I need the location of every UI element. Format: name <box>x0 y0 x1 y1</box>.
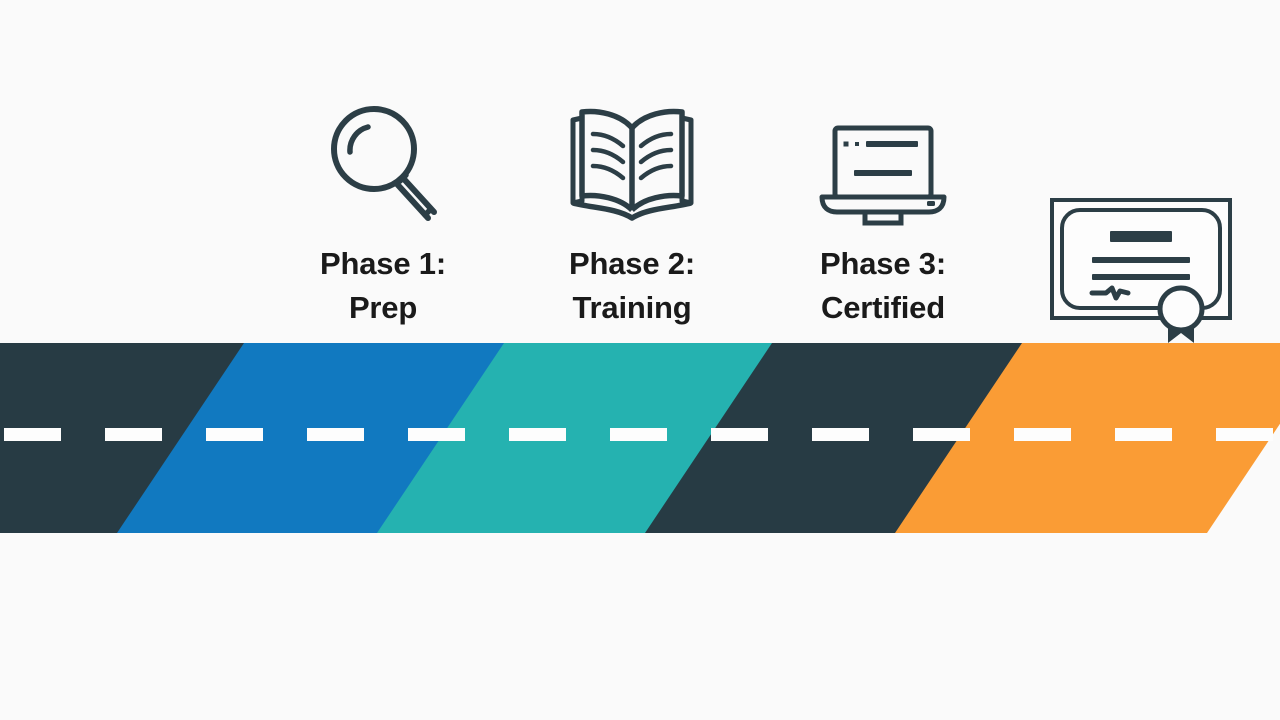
lane-dash <box>1014 428 1071 441</box>
lane-dash <box>307 428 364 441</box>
open-book-icon <box>562 104 702 226</box>
laptop-icon <box>809 122 957 226</box>
award-seal-icon <box>1160 288 1202 343</box>
phase-2-label: Phase 2: Training <box>527 242 737 330</box>
phase-1-label: Phase 1: Prep <box>278 242 488 330</box>
phase-item-2[interactable]: Phase 2: Training <box>527 96 737 330</box>
lane-dash <box>206 428 263 441</box>
phase-item-3[interactable]: Phase 3: Certified <box>778 96 988 330</box>
road-lane-dashes <box>0 343 1280 533</box>
lane-dash <box>1216 428 1273 441</box>
lane-dash <box>408 428 465 441</box>
lane-dash <box>812 428 869 441</box>
roadmap-canvas: Phase 1: Prep Phase 2: Training <box>0 0 1280 720</box>
certificate-award[interactable] <box>1048 196 1234 349</box>
phase-1-icon-slot <box>278 96 488 226</box>
lane-dash <box>105 428 162 441</box>
lane-dash <box>711 428 768 441</box>
lane-dash <box>4 428 61 441</box>
certificate-icon <box>1048 196 1234 344</box>
phase-2-icon-slot <box>527 96 737 226</box>
road-graphic <box>0 343 1280 533</box>
phase-3-icon-slot <box>778 96 988 226</box>
phase-item-1[interactable]: Phase 1: Prep <box>278 96 488 330</box>
phase-3-label: Phase 3: Certified <box>778 242 988 330</box>
lane-dash <box>509 428 566 441</box>
lane-dash <box>1115 428 1172 441</box>
lane-dash <box>610 428 667 441</box>
lane-dash <box>913 428 970 441</box>
magnifier-icon <box>320 100 446 226</box>
